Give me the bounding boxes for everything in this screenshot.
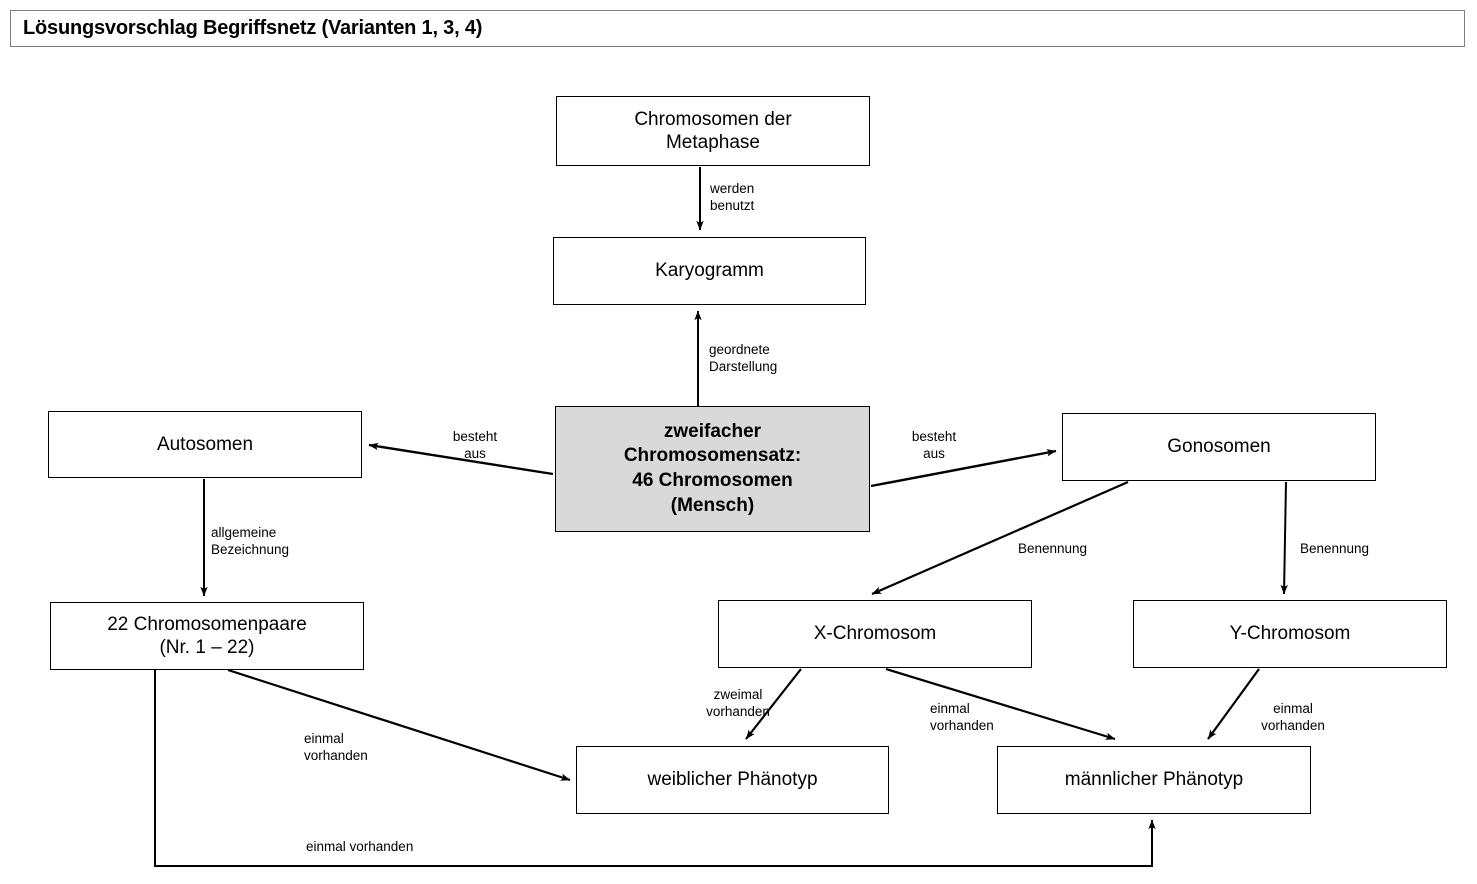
edge-label-einmal-vorhanden-y-maennlich: einmal vorhanden [1251,700,1335,735]
edge-x-to-maennlich [886,669,1115,739]
node-autosomen[interactable]: Autosomen [48,411,362,478]
edge-gonosomen-to-x [872,482,1128,594]
node-label: Chromosomen der Metaphase [634,108,791,154]
node-weiblicher-phaenotyp[interactable]: weiblicher Phänotyp [576,746,889,814]
node-maennlicher-phaenotyp[interactable]: männlicher Phänotyp [997,746,1311,814]
edge-label-allgemeine-bezeichnung: allgemeine Bezeichnung [211,524,289,559]
node-karyogramm[interactable]: Karyogramm [553,237,866,305]
edge-label-besteht-aus-links: besteht aus [443,428,507,463]
node-y-chromosom[interactable]: Y-Chromosom [1133,600,1447,668]
node-x-chromosom[interactable]: X-Chromosom [718,600,1032,668]
node-label: 22 Chromosomenpaare (Nr. 1 – 22) [107,613,307,659]
node-label: Autosomen [157,433,253,456]
node-label: zweifacher Chromosomensatz: 46 Chromosom… [624,420,801,519]
node-label: Y-Chromosom [1230,622,1351,645]
edge-label-benennung-x: Benennung [1018,540,1087,557]
edge-label-einmal-vorhanden-paare-weiblich: einmal vorhanden [304,730,368,765]
edge-label-benennung-y: Benennung [1300,540,1369,557]
edge-gonosomen-to-y [1284,482,1286,594]
edge-label-zweimal-vorhanden: zweimal vorhanden [697,686,779,721]
node-label: männlicher Phänotyp [1065,768,1244,791]
diagram-page: Lösungsvorschlag Begriffsnetz (Varianten… [0,0,1477,884]
node-label: Gonosomen [1167,435,1271,458]
page-title-bar: Lösungsvorschlag Begriffsnetz (Varianten… [10,10,1465,47]
node-gonosomen[interactable]: Gonosomen [1062,413,1376,481]
node-zweifacher-chromosomensatz[interactable]: zweifacher Chromosomensatz: 46 Chromosom… [555,406,870,532]
node-chromosomen-metaphase[interactable]: Chromosomen der Metaphase [556,96,870,166]
edge-paare-to-weiblich [228,670,570,780]
edge-label-einmal-vorhanden-x-maennlich: einmal vorhanden [930,700,994,735]
page-title: Lösungsvorschlag Begriffsnetz (Varianten… [11,17,482,40]
node-label: X-Chromosom [814,622,936,645]
edge-label-geordnete-darstellung: geordnete Darstellung [709,341,777,376]
edge-label-werden-benutzt: werden benutzt [710,180,754,215]
edge-label-einmal-vorhanden-paare-maennlich: einmal vorhanden [306,838,413,855]
node-label: Karyogramm [655,259,764,282]
edge-label-besteht-aus-rechts: besteht aus [903,428,965,463]
node-22-chromosomenpaare[interactable]: 22 Chromosomenpaare (Nr. 1 – 22) [50,602,364,670]
node-label: weiblicher Phänotyp [647,768,817,791]
